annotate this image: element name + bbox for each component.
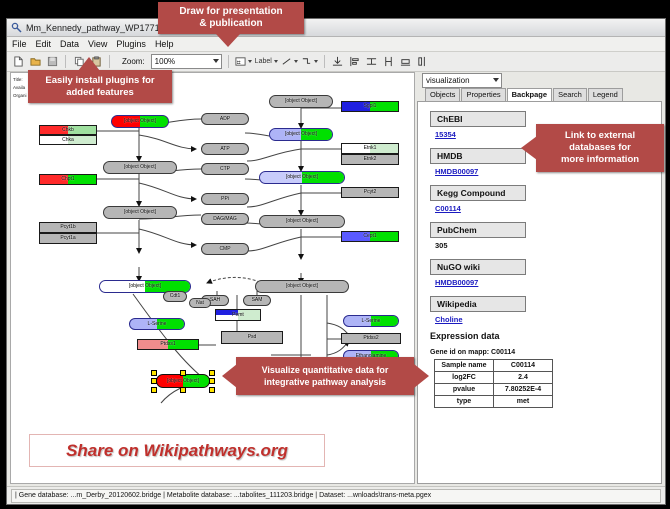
- chevron-down-icon: [314, 60, 318, 63]
- node-label: Etnk1: [364, 146, 377, 151]
- callout-plugins-arrow: [78, 57, 100, 71]
- metabolite-sphingolipids[interactable]: [object Object]: [269, 95, 333, 108]
- shape-dropdown[interactable]: ⌗: [235, 56, 252, 67]
- gene-chka[interactable]: Chka: [39, 135, 97, 145]
- gene-chpt1[interactable]: Chpt1: [39, 174, 97, 185]
- resize-handle-w[interactable]: [151, 378, 157, 384]
- table-row: type met: [435, 396, 553, 408]
- cofactor-dag-mag[interactable]: DAG/MAG: [201, 213, 249, 225]
- callout-visualize-arrow-right: [414, 364, 429, 388]
- metabolite-cdp-ethanolamine[interactable]: [object Object]: [259, 215, 345, 228]
- pathway-canvas[interactable]: Title: Availa Organi: [10, 72, 415, 484]
- gene-id-label: Gene id on mapp: C00114: [430, 349, 661, 356]
- node-label: SAM: [252, 298, 263, 303]
- node-label: DAG/MAG: [213, 217, 237, 222]
- menu-file[interactable]: File: [12, 39, 27, 49]
- resize-handle-n[interactable]: [180, 370, 186, 376]
- menu-help[interactable]: Help: [155, 39, 174, 49]
- db-link-nugo[interactable]: HMDB00097: [435, 278, 661, 287]
- db-header-pubchem: PubChem: [430, 222, 526, 238]
- callout-draw: Draw for presentation & publication: [158, 2, 304, 34]
- db-header-chebi: ChEBI: [430, 111, 526, 127]
- node-label: Ptdss2: [363, 336, 378, 341]
- distribute-horizontal-icon[interactable]: [382, 55, 396, 69]
- db-header-hmdb: HMDB: [430, 148, 526, 164]
- gene-cept1[interactable]: Cept1: [341, 231, 399, 242]
- open-icon[interactable]: [28, 55, 42, 69]
- enzyme-cdt1[interactable]: Cdt1: [163, 291, 187, 302]
- db-link-kegg[interactable]: C00114: [435, 204, 661, 213]
- tab-backpage[interactable]: Backpage: [507, 88, 552, 101]
- sidebar-tabs: Objects Properties Backpage Search Legen…: [417, 88, 662, 101]
- visualization-bar: visualization: [417, 72, 662, 88]
- toolbar-separator: [324, 55, 325, 68]
- save-icon[interactable]: [45, 55, 59, 69]
- callout-visualize-arrow-left: [222, 364, 237, 388]
- callout-visualize-line2: integrative pathway analysis: [264, 376, 386, 388]
- tab-legend[interactable]: Legend: [588, 88, 623, 101]
- callout-draw-line1: Draw for presentation: [179, 6, 282, 18]
- enzyme-nat[interactable]: Nat: [189, 298, 211, 308]
- node-label: Ethanolamine: [356, 354, 387, 359]
- stack-vertical-icon[interactable]: [416, 55, 430, 69]
- menu-data[interactable]: Data: [60, 39, 79, 49]
- gene-psd[interactable]: Psd: [221, 331, 283, 344]
- stack-horizontal-icon[interactable]: [399, 55, 413, 69]
- chevron-down-icon: [274, 60, 278, 63]
- chevron-down-icon: [493, 78, 499, 82]
- toolbar-separator: [65, 55, 66, 68]
- table-row: Sample name C00114: [435, 360, 553, 372]
- connector-tool-dropdown[interactable]: [301, 56, 318, 67]
- expression-table: Sample name C00114 log2FC 2.4 pvalue 7.8…: [434, 359, 553, 408]
- cofactor-ppi[interactable]: PPi: [201, 193, 249, 205]
- resize-handle-sw[interactable]: [151, 387, 157, 393]
- status-bar: | Gene database: ...m_Derby_20120602.bri…: [7, 486, 665, 504]
- chevron-down-icon: [248, 60, 252, 63]
- share-banner-text: Share on Wikipathways.org: [66, 441, 288, 461]
- zoom-label: Zoom:: [122, 57, 145, 66]
- gene-pcyt2[interactable]: Pcyt2: [341, 187, 399, 198]
- tool-bar: Zoom: 100% ⌗ Label: [7, 52, 665, 72]
- expr-key-sample: Sample name: [435, 360, 494, 372]
- callout-links-line1: Link to external: [565, 130, 635, 142]
- callout-draw-arrow: [216, 34, 240, 47]
- metabolite-choline-top[interactable]: [object Object]: [111, 115, 169, 128]
- expr-val-type: met: [494, 396, 553, 408]
- gene-etnk2[interactable]: Etnk2: [341, 154, 399, 165]
- status-text: | Gene database: ...m_Derby_20120602.bri…: [11, 489, 661, 503]
- align-bottom-icon[interactable]: [331, 55, 345, 69]
- visualization-value: visualization: [426, 76, 470, 85]
- node-label: CTP: [220, 167, 230, 172]
- node-label: [object Object]: [167, 379, 199, 384]
- node-label: [object Object]: [286, 175, 318, 180]
- db-value-pubchem: 305: [435, 241, 661, 250]
- node-label: SAH: [210, 298, 220, 303]
- zoom-select[interactable]: 100%: [151, 54, 222, 69]
- metabolite-phosphatidylethanolamine[interactable]: [object Object]: [255, 280, 349, 293]
- node-label: CMP: [219, 247, 230, 252]
- cofactor-ctp[interactable]: CTP: [201, 163, 249, 175]
- tab-objects[interactable]: Objects: [425, 88, 460, 101]
- chevron-down-icon: [294, 60, 298, 63]
- table-row: log2FC 2.4: [435, 372, 553, 384]
- node-label: [object Object]: [286, 219, 318, 224]
- node-label: Nat: [196, 301, 204, 306]
- node-label: PPi: [221, 197, 229, 202]
- menu-plugins[interactable]: Plugins: [116, 39, 146, 49]
- resize-handle-e[interactable]: [209, 378, 215, 384]
- metabolite-phosphocholine[interactable]: [object Object]: [103, 161, 177, 174]
- cofactor-atp[interactable]: ATP: [201, 143, 249, 155]
- db-header-wikipedia: Wikipedia: [430, 296, 526, 312]
- expr-val-pvalue: 7.80252E-4: [494, 384, 553, 396]
- toolbar-separator: [228, 55, 229, 68]
- label-dropdown[interactable]: Label: [255, 58, 278, 65]
- node-label: Chkb: [62, 128, 74, 133]
- expr-key-pvalue: pvalue: [435, 384, 494, 396]
- selected-node-group[interactable]: [object Object]: [151, 370, 215, 392]
- resize-handle-ne[interactable]: [209, 370, 215, 376]
- align-left-icon[interactable]: [348, 55, 362, 69]
- chevron-down-icon: [213, 59, 219, 63]
- callout-links-line3: more information: [561, 154, 639, 166]
- callout-plugins: Easily install plugins for added feature…: [28, 70, 172, 103]
- node-label: [object Object]: [129, 284, 161, 289]
- node-label: Pcyt1b: [60, 225, 75, 230]
- node-label: Chpt1: [61, 177, 74, 182]
- table-row: pvalue 7.80252E-4: [435, 384, 553, 396]
- gene-sgpl1[interactable]: Sgpl1: [341, 101, 399, 112]
- cofactor-adp[interactable]: ADP: [201, 113, 249, 125]
- node-label: [object Object]: [124, 210, 156, 215]
- metabolite-sam[interactable]: SAM: [243, 295, 271, 306]
- gene-ptdss2[interactable]: Ptdss2: [341, 333, 401, 344]
- db-header-nugo: NuGO wiki: [430, 259, 526, 275]
- node-label: [object Object]: [124, 119, 156, 124]
- callout-links: Link to external databases for more info…: [536, 124, 664, 172]
- resize-handle-nw[interactable]: [151, 370, 157, 376]
- app-icon: [11, 22, 22, 33]
- line-tool-dropdown[interactable]: [281, 56, 298, 67]
- gene-pcyt1b[interactable]: Pcyt1b: [39, 222, 97, 233]
- node-label: Cept1: [363, 234, 376, 239]
- share-banner: Share on Wikipathways.org: [29, 434, 325, 467]
- metabolite-ethanolamine[interactable]: [object Object]: [269, 128, 333, 141]
- node-label: Pcyt1a: [60, 236, 75, 241]
- callout-draw-line2: & publication: [199, 18, 262, 30]
- menu-edit[interactable]: Edit: [36, 39, 52, 49]
- node-label: Pemt: [232, 313, 244, 318]
- distribute-vertical-icon[interactable]: [365, 55, 379, 69]
- zoom-value: 100%: [155, 57, 175, 66]
- expression-data-heading: Expression data: [430, 331, 661, 341]
- callout-visualize-line1: Visualize quantitative data for: [262, 364, 389, 376]
- gene-pcyt1a[interactable]: Pcyt1a: [39, 233, 97, 244]
- node-label: ATP: [220, 147, 229, 152]
- menu-bar: File Edit Data View Plugins Help: [7, 37, 665, 52]
- new-icon[interactable]: [11, 55, 25, 69]
- callout-links-line2: databases for: [569, 142, 631, 154]
- tab-properties[interactable]: Properties: [461, 88, 505, 101]
- screenshot-root: Mm_Kennedy_pathway_WP1771_45176.gpml Fil…: [0, 0, 670, 509]
- node-label: [object Object]: [124, 165, 156, 170]
- metabolite-cdp-choline[interactable]: [object Object]: [103, 206, 177, 219]
- node-label: Ptdss1: [160, 342, 175, 347]
- node-label: Cdt1: [170, 294, 181, 299]
- title-bar: Mm_Kennedy_pathway_WP1771_45176.gpml: [7, 19, 665, 37]
- metabolite-l-serine-left[interactable]: L-Serine: [129, 318, 185, 330]
- label-dropdown-text: Label: [255, 58, 272, 65]
- tab-search[interactable]: Search: [553, 88, 587, 101]
- node-label: ADP: [220, 117, 230, 122]
- metabolite-o-phosphoethanolamine[interactable]: [object Object]: [259, 171, 345, 184]
- visualization-select[interactable]: visualization: [422, 73, 502, 88]
- db-link-wikipedia[interactable]: Choline: [435, 315, 661, 324]
- expr-key-log2fc: log2FC: [435, 372, 494, 384]
- toolbar-separator: [109, 55, 110, 68]
- expr-val-log2fc: 2.4: [494, 372, 553, 384]
- callout-links-arrow: [521, 136, 537, 160]
- node-label: Psd: [248, 335, 257, 340]
- callout-visualize: Visualize quantitative data for integrat…: [236, 357, 414, 395]
- node-label: Pcyt2: [364, 190, 377, 195]
- node-label: Sgpl1: [364, 104, 377, 109]
- cofactor-cmp[interactable]: CMP: [201, 243, 249, 255]
- gene-ptdss1[interactable]: Ptdss1: [137, 339, 199, 350]
- node-label: Chka: [62, 138, 74, 143]
- node-label: [object Object]: [286, 284, 318, 289]
- gene-pemt[interactable]: Pemt: [215, 309, 261, 321]
- svg-text:⌗: ⌗: [237, 59, 241, 66]
- resize-handle-se[interactable]: [209, 387, 215, 393]
- node-label: [object Object]: [285, 99, 317, 104]
- expr-key-type: type: [435, 396, 494, 408]
- menu-view[interactable]: View: [88, 39, 107, 49]
- node-label: L-Serine: [362, 319, 381, 324]
- resize-handle-s[interactable]: [180, 387, 186, 393]
- metabolite-l-serine-right[interactable]: L-Serine: [343, 315, 399, 327]
- expr-val-sample: C00114: [494, 360, 553, 372]
- gene-etnk1[interactable]: Etnk1: [341, 143, 399, 154]
- gene-chkb[interactable]: Chkb: [39, 125, 97, 135]
- node-label: [object Object]: [285, 132, 317, 137]
- node-label: Etnk2: [364, 157, 377, 162]
- node-label: L-Serine: [148, 322, 167, 327]
- callout-plugins-line1: Easily install plugins for: [45, 75, 154, 87]
- db-header-kegg: Kegg Compound: [430, 185, 526, 201]
- metabolite-choline-selected[interactable]: [object Object]: [156, 374, 210, 388]
- callout-plugins-line2: added features: [66, 87, 134, 99]
